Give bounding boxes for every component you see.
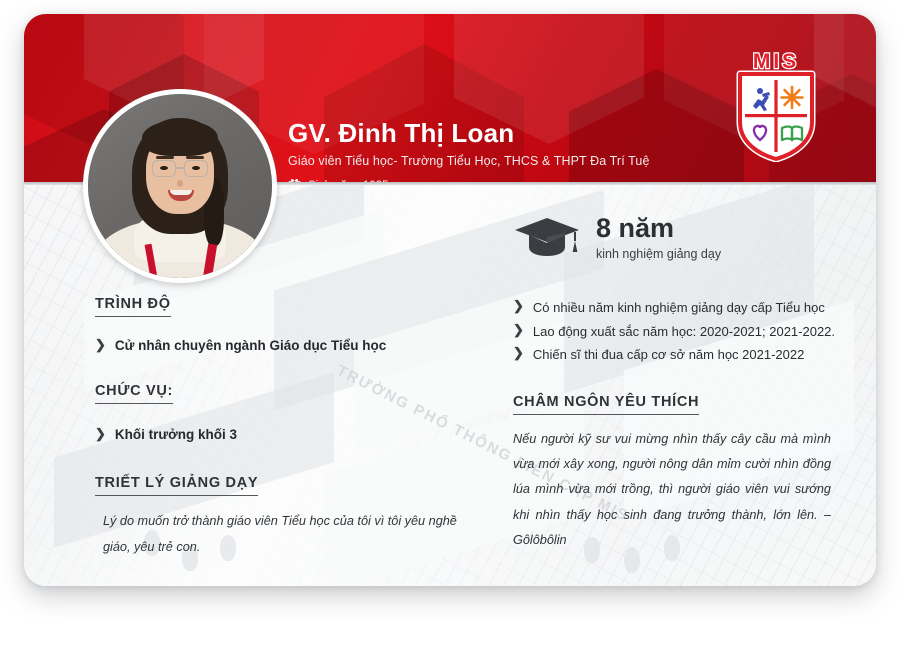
achievement-item: ❯ Có nhiều năm kinh nghiệm giảng dạy cấp…: [513, 298, 863, 318]
education-section: TRÌNH ĐỘ ❯ Cử nhân chuyên ngành Giáo dục…: [95, 295, 495, 355]
birth-year-label: Sinh năm: 1995: [308, 180, 389, 182]
philosophy-section: TRIẾT LÝ GIẢNG DẠY Lý do muốn trở thành …: [95, 474, 495, 560]
chevron-right-icon: ❯: [513, 298, 524, 315]
quote-heading: CHÂM NGÔN YÊU THÍCH: [513, 394, 699, 415]
achievement-label: Có nhiều năm kinh nghiệm giảng dạy cấp T…: [533, 298, 825, 318]
portrait-brow: [186, 156, 204, 159]
portrait-nose: [177, 180, 183, 187]
mis-shield-icon: [736, 70, 816, 162]
teacher-profile-card: GV. Đinh Thị Loan Giáo viên Tiểu học- Tr…: [24, 14, 876, 586]
quote-text: Nếu người kỹ sư vui mừng nhìn thấy cây c…: [513, 427, 831, 554]
avatar: [83, 89, 277, 283]
teacher-name: GV. Đinh Thị Loan: [288, 119, 650, 148]
portrait-brow: [156, 156, 174, 159]
header-text-block: GV. Đinh Thị Loan Giáo viên Tiểu học- Tr…: [288, 119, 650, 182]
chevron-right-icon: ❯: [95, 337, 106, 354]
experience-subtitle: kinh nghiệm giảng dạy: [596, 247, 721, 261]
quote-section: CHÂM NGÔN YÊU THÍCH Nếu người kỹ sư vui …: [513, 393, 863, 554]
portrait-glasses-bridge: [176, 167, 184, 169]
achievements-list: ❯ Có nhiều năm kinh nghiệm giảng dạy cấp…: [513, 298, 863, 365]
birth-year-row: Sinh năm: 1995: [288, 177, 650, 182]
philosophy-text: Lý do muốn trở thành giáo viên Tiểu học …: [103, 508, 467, 560]
portrait-eye: [192, 166, 200, 170]
left-column: TRÌNH ĐỘ ❯ Cử nhân chuyên ngành Giáo dục…: [95, 295, 495, 561]
star-burst-icon: [782, 87, 803, 108]
position-item-label: Khối trưởng khối 3: [115, 426, 237, 444]
portrait-eye: [160, 166, 168, 170]
education-item: ❯ Cử nhân chuyên ngành Giáo dục Tiểu học: [95, 337, 495, 355]
experience-section: 8 năm kinh nghiệm giảng dạy: [513, 214, 863, 262]
mis-logo: MIS: [730, 50, 822, 162]
experience-years: 8 năm: [596, 215, 721, 242]
teacher-portrait: [88, 94, 272, 278]
education-heading: TRÌNH ĐỘ: [95, 296, 171, 317]
right-column: 8 năm kinh nghiệm giảng dạy ❯ Có nhiều n…: [513, 214, 863, 554]
position-heading: CHỨC VỤ:: [95, 383, 173, 404]
gift-icon: [288, 177, 301, 182]
position-item: ❯ Khối trưởng khối 3: [95, 426, 495, 444]
graduation-cap-icon: [513, 214, 581, 262]
education-item-label: Cử nhân chuyên ngành Giáo dục Tiểu học: [115, 337, 386, 355]
portrait-fringe: [142, 120, 218, 156]
achievement-item: ❯ Chiến sĩ thi đua cấp cơ sở năm học 202…: [513, 345, 863, 365]
experience-text-block: 8 năm kinh nghiệm giảng dạy: [596, 215, 721, 261]
portrait-teeth: [170, 190, 192, 195]
teacher-role: Giáo viên Tiểu học- Trường Tiểu Học, THC…: [288, 154, 650, 168]
achievement-item: ❯ Lao động xuất sắc năm học: 2020-2021; …: [513, 322, 863, 342]
achievement-label: Lao động xuất sắc năm học: 2020-2021; 20…: [533, 322, 835, 342]
poster-stage: GV. Đinh Thị Loan Giáo viên Tiểu học- Tr…: [0, 0, 900, 650]
chevron-right-icon: ❯: [513, 322, 524, 339]
achievement-label: Chiến sĩ thi đua cấp cơ sở năm học 2021-…: [533, 345, 804, 365]
philosophy-heading: TRIẾT LÝ GIẢNG DẠY: [95, 475, 258, 496]
chevron-right-icon: ❯: [513, 345, 524, 362]
position-section: CHỨC VỤ: ❯ Khối trưởng khối 3: [95, 382, 495, 444]
chevron-right-icon: ❯: [95, 426, 106, 443]
